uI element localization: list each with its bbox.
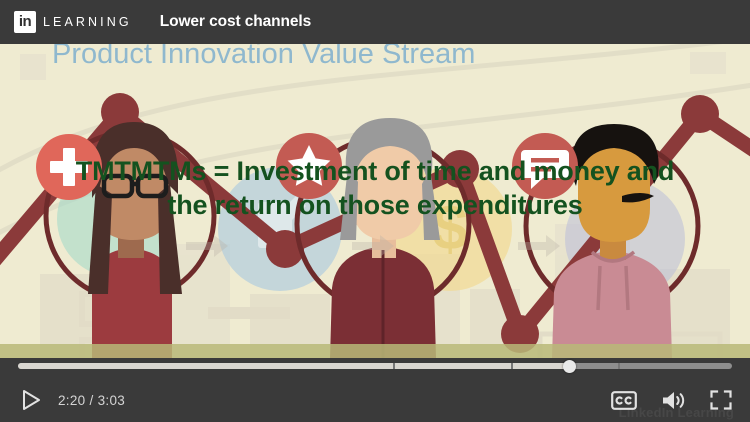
scrub-handle[interactable] [563,360,576,373]
video-stage[interactable]: $ Product Innovation Value Stream [0,44,750,358]
player-control-bar: 2:20 / 3:03 [0,358,750,422]
slide-illustration: $ Product Innovation Value Stream [0,44,750,358]
video-player: in LEARNING Lower cost channels [0,0,750,422]
plus-badge [36,134,102,200]
star-badge [276,133,342,199]
linkedin-in-icon: in [14,11,36,33]
scrub-zone[interactable] [0,358,750,378]
player-top-bar: in LEARNING Lower cost channels [0,0,750,44]
progress-buffered [18,363,568,369]
video-title: Lower cost channels [160,13,311,31]
play-button[interactable] [18,387,44,413]
chapter-marker[interactable] [618,363,620,369]
progress-track[interactable] [18,363,732,369]
slide-heading: Product Innovation Value Stream [52,44,475,70]
linkedin-learning-logo[interactable]: in LEARNING [14,11,132,33]
time-display: 2:20 / 3:03 [58,393,125,408]
chapter-marker[interactable] [511,363,513,369]
brand-watermark: LinkedIn Learning [619,405,734,420]
speech-bubble-badge [512,133,578,199]
chapter-marker[interactable] [393,363,395,369]
play-icon [21,389,41,411]
learning-wordmark: LEARNING [43,15,132,29]
